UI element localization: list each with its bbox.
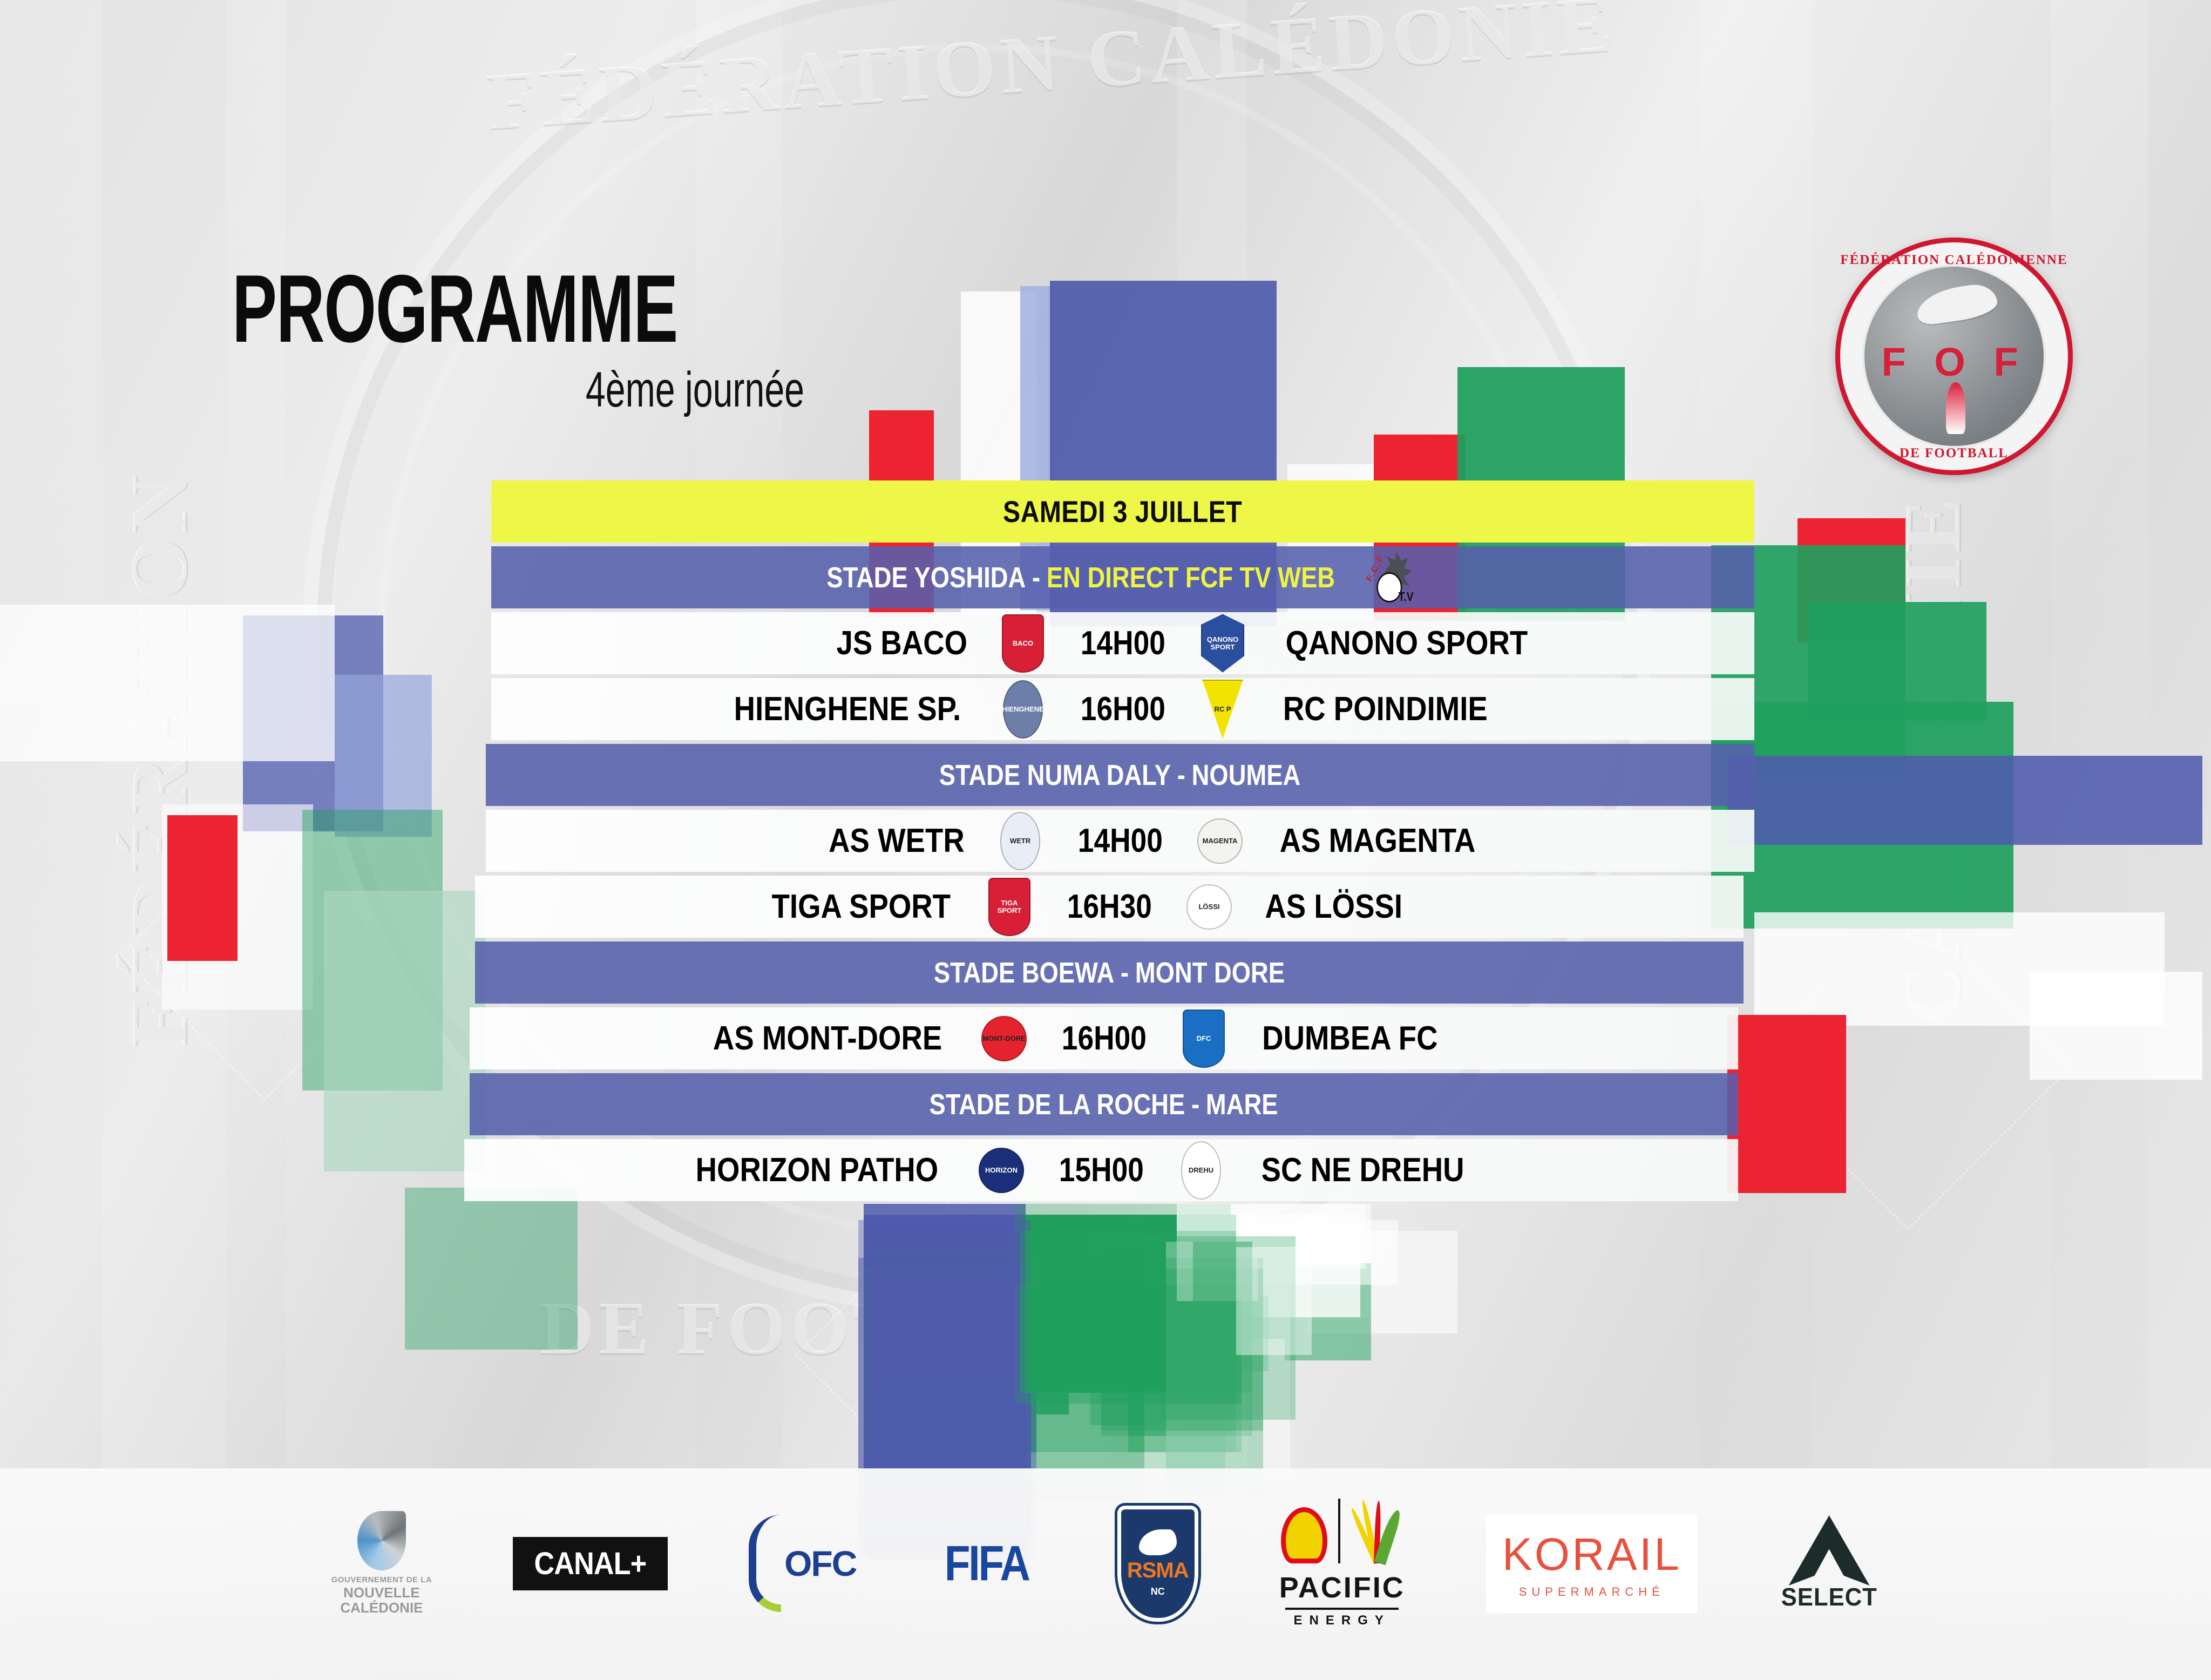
sponsor-fifa-label: FIFA [945,1535,1029,1592]
sponsor-select[interactable]: SELECT [1779,1499,1880,1628]
crest-bottom-text: DE FOOTBALL [1835,446,2073,461]
page-title-block: PROGRAMME 4ème journée [232,265,826,418]
sponsor-korail-sub: SUPERMARCHÉ [1519,1585,1665,1599]
venue-banner: STADE BOEWA - MONT DORE [475,941,1744,1004]
sponsor-gov-line1: GOUVERNEMENT DE LA [331,1576,432,1585]
rsma-bird-icon [1139,1529,1177,1555]
sponsor-fifa[interactable]: FIFA [937,1499,1036,1628]
club-badge: HORIZON [979,1148,1024,1193]
sponsor-korail-label: KORAIL [1502,1528,1681,1581]
sponsor-ofc[interactable]: OFC [749,1499,856,1628]
decor-block [1727,756,2202,845]
match-away-team: AS LÖSSI [1242,888,1744,926]
match-away-team: SC NE DREHU [1233,1151,1738,1189]
club-badge-text: BACO [1002,614,1044,673]
club-badge: TIGA SPORT [988,878,1030,936]
sponsor-gov-line2: NOUVELLE [331,1585,432,1601]
sponsor-pacific-label: PACIFIC [1279,1571,1405,1604]
club-badge-text: MONT-DORE [981,1016,1027,1061]
ofc-swoosh-icon [749,1515,781,1612]
crest-top-text: FÉDÉRATION CALÉDONIENNE [1835,253,2073,268]
pacific-divider [1338,1499,1340,1563]
club-badge-slot: MAGENTA [1188,818,1252,864]
match-home-team: HIENGHENE SP. [491,690,991,728]
select-triangle-icon [1789,1515,1870,1586]
match-home-team: JS BACO [491,624,991,662]
sponsor-rsma-sub: NC [1151,1586,1165,1597]
venue-name: STADE NUMA DALY [939,758,1171,792]
venue-dash: - [1192,1088,1200,1121]
venue-dash: - [1032,561,1040,594]
venue-inner: STADE DE LA ROCHE - MARE [930,1088,1278,1121]
match-kickoff-time: 14H00 [1053,822,1188,860]
club-badge-slot: RC P [1190,680,1255,739]
club-badge-text: TIGA SPORT [988,878,1030,936]
venue-name: STADE BOEWA [934,956,1114,990]
club-badge: HIENGHENE [1003,680,1043,739]
venue-dash: - [1121,956,1129,990]
match-away-team: AS MAGENTA [1252,822,1754,860]
heliconia-leaf-icon [1351,1499,1403,1563]
match-kickoff-time: 15H00 [1034,1151,1169,1189]
club-badge-slot: DFC [1171,1010,1236,1068]
club-badge-slot: WETR [988,812,1053,870]
sponsor-select-label: SELECT [1781,1582,1877,1611]
club-badge-slot: LÖSSI [1177,884,1242,930]
venue-inner: STADE YOSHIDA - EN DIRECT FCF TV WEB F.C… [827,547,1419,608]
club-badge-slot: TIGA SPORT [977,878,1042,936]
federation-crest-logo: F O F FÉDÉRATION CALÉDONIENNE DE FOOTBAL… [1835,238,2073,475]
match-row: HIENGHENE SP. HIENGHENE 16H00 RC P [491,678,1754,740]
club-badge: QANONO SPORT [1201,614,1244,673]
match-away-team: QANONO SPORT [1255,624,1754,662]
club-badge-slot: DREHU [1169,1141,1233,1200]
sponsor-pacific-sub: ENERGY [1294,1613,1391,1628]
venue-location: MARE [1206,1088,1278,1121]
match-kickoff-time: 16H00 [1055,690,1190,728]
venue-location: NOUMEA [1192,758,1301,792]
club-badge-text: LÖSSI [1186,884,1232,930]
club-badge-slot: BACO [991,614,1055,673]
club-badge-text: WETR [1000,812,1040,870]
match-home-team: AS MONT-DORE [470,1019,972,1058]
club-badge: MONT-DORE [981,1016,1027,1061]
match-row: JS BACO BACO 14H00 QANONO SPORT [491,612,1754,674]
decor-block [167,815,238,961]
match-row: TIGA SPORT TIGA SPORT 16H30 LÖSSI [475,876,1744,938]
match-away-team: DUMBEA FC [1236,1019,1738,1058]
decor-block [1727,1015,1846,1193]
match-row: AS MONT-DORE MONT-DORE 16H00 DFC [470,1007,1738,1069]
venue-location: MONT DORE [1135,956,1285,990]
club-badge: LÖSSI [1186,884,1232,930]
fcf-tv-logo: F.C.F T.V [1360,547,1419,608]
club-badge-text: DREHU [1181,1141,1221,1200]
club-badge-slot: HORIZON [969,1148,1034,1193]
match-row: HORIZON PATHO HORIZON 15H00 DREHU [464,1139,1738,1201]
shell-logo-icon [1281,1507,1327,1563]
club-badge: BACO [1002,614,1044,673]
venue-name: STADE YOSHIDA [827,561,1026,594]
club-badge: RC P [1202,680,1243,739]
club-badge-text: QANONO SPORT [1201,614,1244,673]
venue-name: STADE DE LA ROCHE [930,1088,1185,1121]
venue-inner: STADE BOEWA - MONT DORE [934,956,1285,990]
decor-block [405,1188,578,1350]
sponsor-korail[interactable]: KORAIL SUPERMARCHÉ [1486,1499,1698,1628]
venue-banner: STADE DE LA ROCHE - MARE [470,1073,1738,1135]
day-band-label: SAMEDI 3 JUILLET [1003,494,1242,529]
page-subtitle: 4ème journée [392,362,804,418]
page-title: PROGRAMME [232,265,648,353]
club-badge-text: HORIZON [979,1148,1024,1193]
match-kickoff-time: 16H00 [1036,1019,1171,1058]
sponsor-gov-line3: CALÉDONIE [331,1600,432,1616]
rsma-shield-icon: RSMA NC [1117,1506,1198,1622]
match-home-team: TIGA SPORT [475,888,977,926]
crest-flame-icon [1946,382,1965,434]
sponsor-canal-label: CANAL+ [534,1546,647,1582]
club-badge-text: DFC [1183,1010,1225,1068]
crest-monogram: F O F [1835,339,2073,385]
match-kickoff-time: 16H30 [1042,888,1177,926]
nautilus-shell-icon [357,1511,406,1570]
match-away-team: RC POINDIMIE [1255,690,1754,728]
decor-block [2030,972,2202,1080]
decor-block [1236,1247,1312,1355]
venue-inner: STADE NUMA DALY - NOUMEA [939,758,1300,792]
venue-banner: STADE NUMA DALY - NOUMEA [486,744,1754,806]
match-home-team: AS WETR [486,822,988,860]
club-badge: WETR [1000,812,1040,870]
sponsor-ofc-label: OFC [784,1543,856,1584]
fcf-tv-tv-text: T.V [1399,590,1414,604]
sponsor-rsma-label: RSMA [1127,1559,1189,1583]
decor-block [0,605,335,761]
sponsor-gouvernement-nc[interactable]: GOUVERNEMENT DE LA NOUVELLE CALÉDONIE [331,1499,432,1628]
venue-banner: STADE YOSHIDA - EN DIRECT FCF TV WEB F.C… [491,546,1754,608]
pacific-rule [1285,1608,1399,1610]
venue-dash: - [1177,758,1185,792]
sponsor-pacific-energy[interactable]: PACIFIC ENERGY [1279,1499,1405,1628]
club-badge: DREHU [1181,1141,1221,1200]
club-badge-text: HIENGHENE [1003,680,1043,739]
sponsor-rsma[interactable]: RSMA NC [1117,1499,1198,1628]
club-badge: MAGENTA [1197,818,1243,864]
sponsor-canal-plus[interactable]: CANAL+ [513,1499,668,1628]
club-badge: DFC [1183,1010,1225,1068]
club-badge-text: MAGENTA [1197,818,1243,864]
decor-block [324,891,486,1171]
club-badge-slot: HIENGHENE [991,680,1055,739]
match-row: AS WETR WETR 14H00 MAGENTA [486,810,1754,872]
club-badge-slot: QANONO SPORT [1190,614,1255,673]
club-badge-text: RC P [1202,680,1243,739]
club-badge-slot: MONT-DORE [972,1016,1036,1061]
live-broadcast-label: EN DIRECT FCF TV WEB [1047,561,1335,594]
match-home-team: HORIZON PATHO [464,1151,969,1189]
sponsor-footer: GOUVERNEMENT DE LA NOUVELLE CALÉDONIE CA… [0,1468,2211,1680]
match-kickoff-time: 14H00 [1055,624,1190,662]
day-band: SAMEDI 3 JUILLET [491,480,1754,543]
